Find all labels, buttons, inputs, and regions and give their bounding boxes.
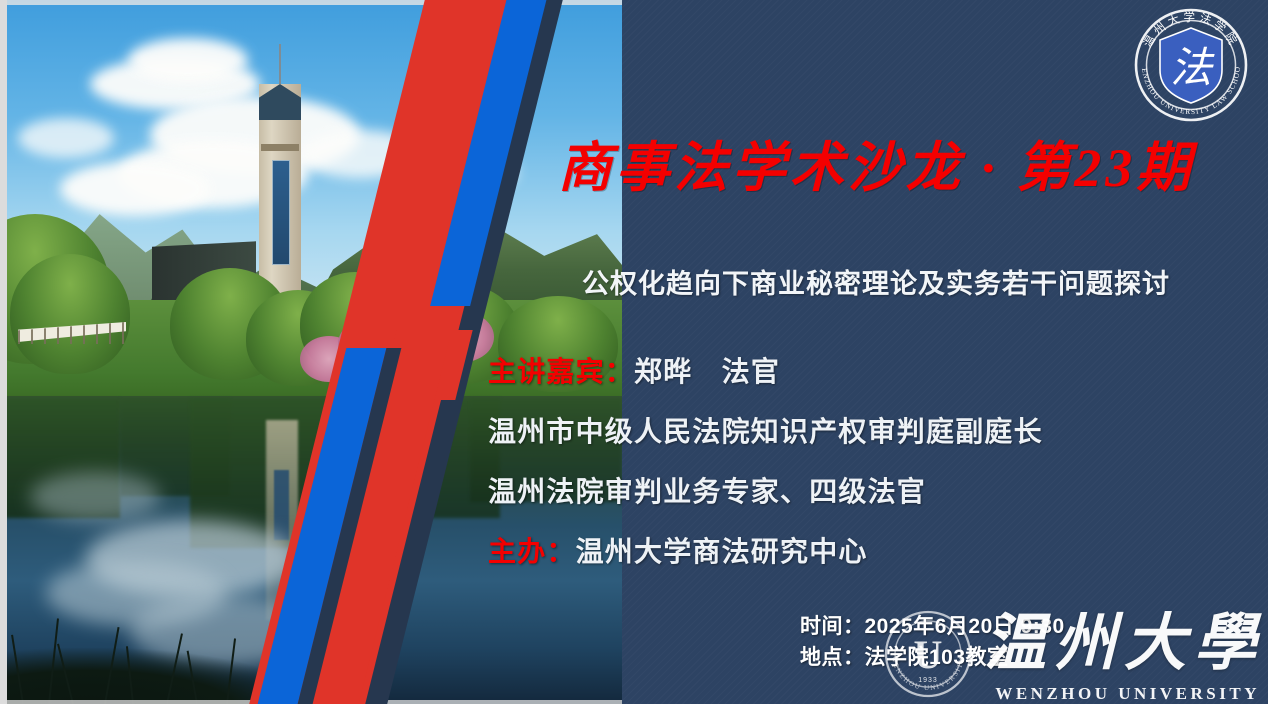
slide-subtitle: 公权化趋向下商业秘密理论及实务若干问题探讨 [490, 262, 1262, 301]
tower-glass-reflection [274, 470, 289, 540]
host-value: 温州大学商法研究中心 [576, 537, 868, 568]
speaker-label: 主讲嘉宾： [488, 357, 634, 388]
cloud [128, 38, 248, 82]
host-line: 主办：温州大学商法研究中心 [488, 530, 868, 570]
host-label: 主办： [488, 537, 576, 568]
page-title: 商事法学术沙龙 · 第23期 [496, 137, 1256, 201]
tower-antenna [279, 44, 281, 86]
tower-glass-panel [272, 160, 290, 265]
cloud [60, 162, 210, 216]
cloud-reflection [30, 472, 160, 522]
event-time: 时间：2025年6月20日 9:30 [800, 610, 1065, 640]
speaker-value: 郑晔 法官 [634, 357, 780, 388]
tree [10, 254, 130, 374]
speaker-line: 主讲嘉宾：郑晔 法官 [488, 350, 780, 390]
tower-band [261, 144, 299, 151]
presentation-slide: 温州大学法学院 WENZHOU UNIVERSITY LAW SCHOOL 法 … [0, 0, 1268, 704]
event-place: 地点：法学院103教室 [800, 641, 1009, 671]
cloud [18, 118, 114, 158]
speaker-affiliation-2: 温州法院审判业务专家、四级法官 [488, 470, 926, 510]
photo-border-left [0, 0, 7, 704]
slide-content: 商事法学术沙龙 · 第23期 公权化趋向下商业秘密理论及实务若干问题探讨 主讲嘉… [470, 0, 1268, 704]
speaker-affiliation-1: 温州市中级人民法院知识产权审判庭副庭长 [488, 410, 1043, 450]
